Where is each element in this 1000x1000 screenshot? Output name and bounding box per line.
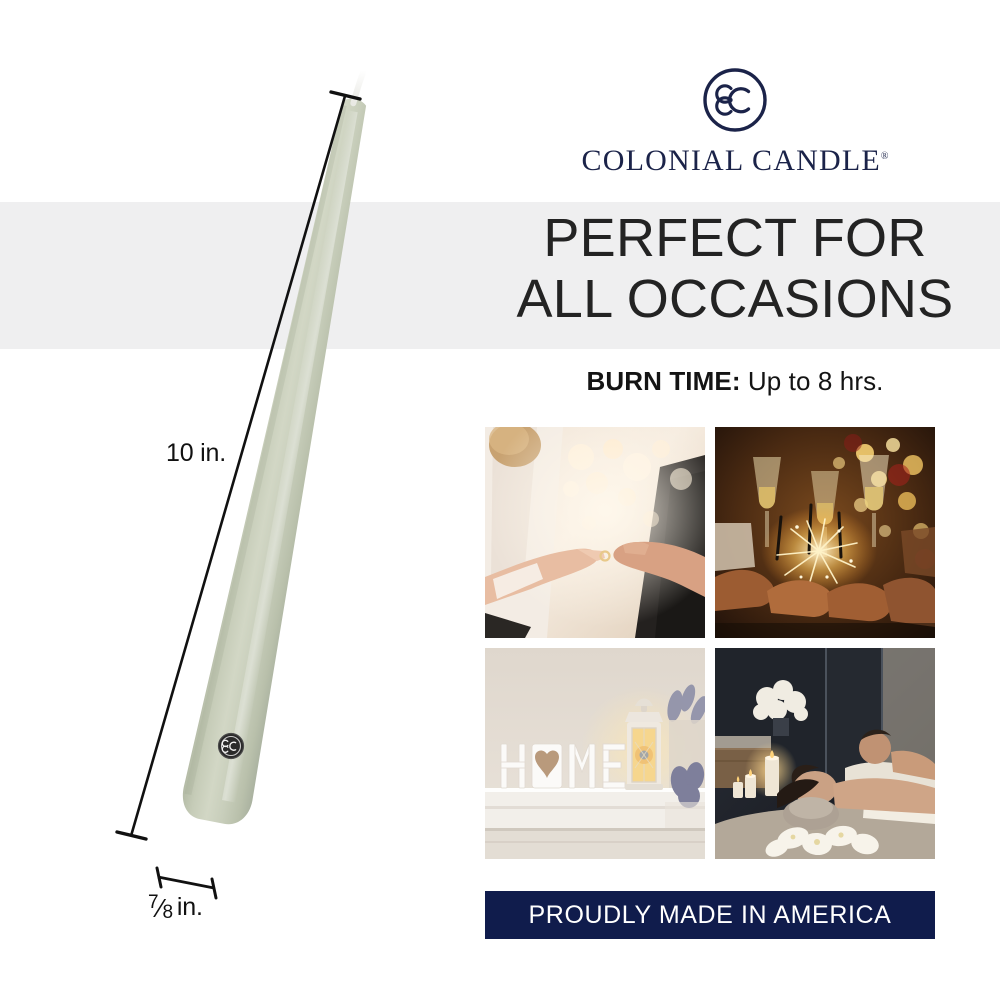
photo-celebration-sparklers [715,427,935,638]
lifestyle-photo-grid [485,427,935,859]
height-dimension-label: 10 in. [166,439,226,468]
made-in-america-banner: PROUDLY MADE IN AMERICA [485,891,935,939]
photo-wedding-rings [485,427,705,638]
fraction-numerator: 7 [148,893,158,912]
width-unit: in. [177,893,203,922]
brand-wordmark: COLONIAL CANDLE® [582,144,889,178]
photo-home-decor [485,648,705,859]
cc-seal-medallion [219,734,244,759]
width-dimension-label: 7 ⁄ 8 in. [148,893,203,922]
banner-label: PROUDLY MADE IN AMERICA [529,901,892,930]
headline-line-2: ALL OCCASIONS [470,269,1000,330]
photo-spa-relaxation [715,648,935,859]
product-infographic: 10 in. 7 ⁄ 8 in. COLONIAL CANDLE® [0,0,1000,1000]
headline-line-1: PERFECT FOR [470,208,1000,269]
page-title: PERFECT FOR ALL OCCASIONS [470,208,1000,330]
width-fraction: 7 ⁄ 8 [148,895,173,921]
brand-logo: COLONIAL CANDLE® [470,66,1000,178]
brand-name: COLONIAL CANDLE [582,144,881,177]
burn-time-value: Up to 8 hrs. [748,366,884,396]
lantern [625,699,663,791]
info-panel: COLONIAL CANDLE® PERFECT FOR ALL OCCASIO… [470,0,1000,1000]
fraction-denominator: 8 [163,903,173,922]
registered-trademark-icon: ® [881,151,889,162]
cc-monogram-icon [701,66,769,134]
burn-time-label: BURN TIME: [586,366,740,396]
product-illustration [0,0,470,1000]
product-image-panel: 10 in. 7 ⁄ 8 in. [0,0,470,1000]
burn-time-info: BURN TIME: Up to 8 hrs. [470,366,1000,397]
